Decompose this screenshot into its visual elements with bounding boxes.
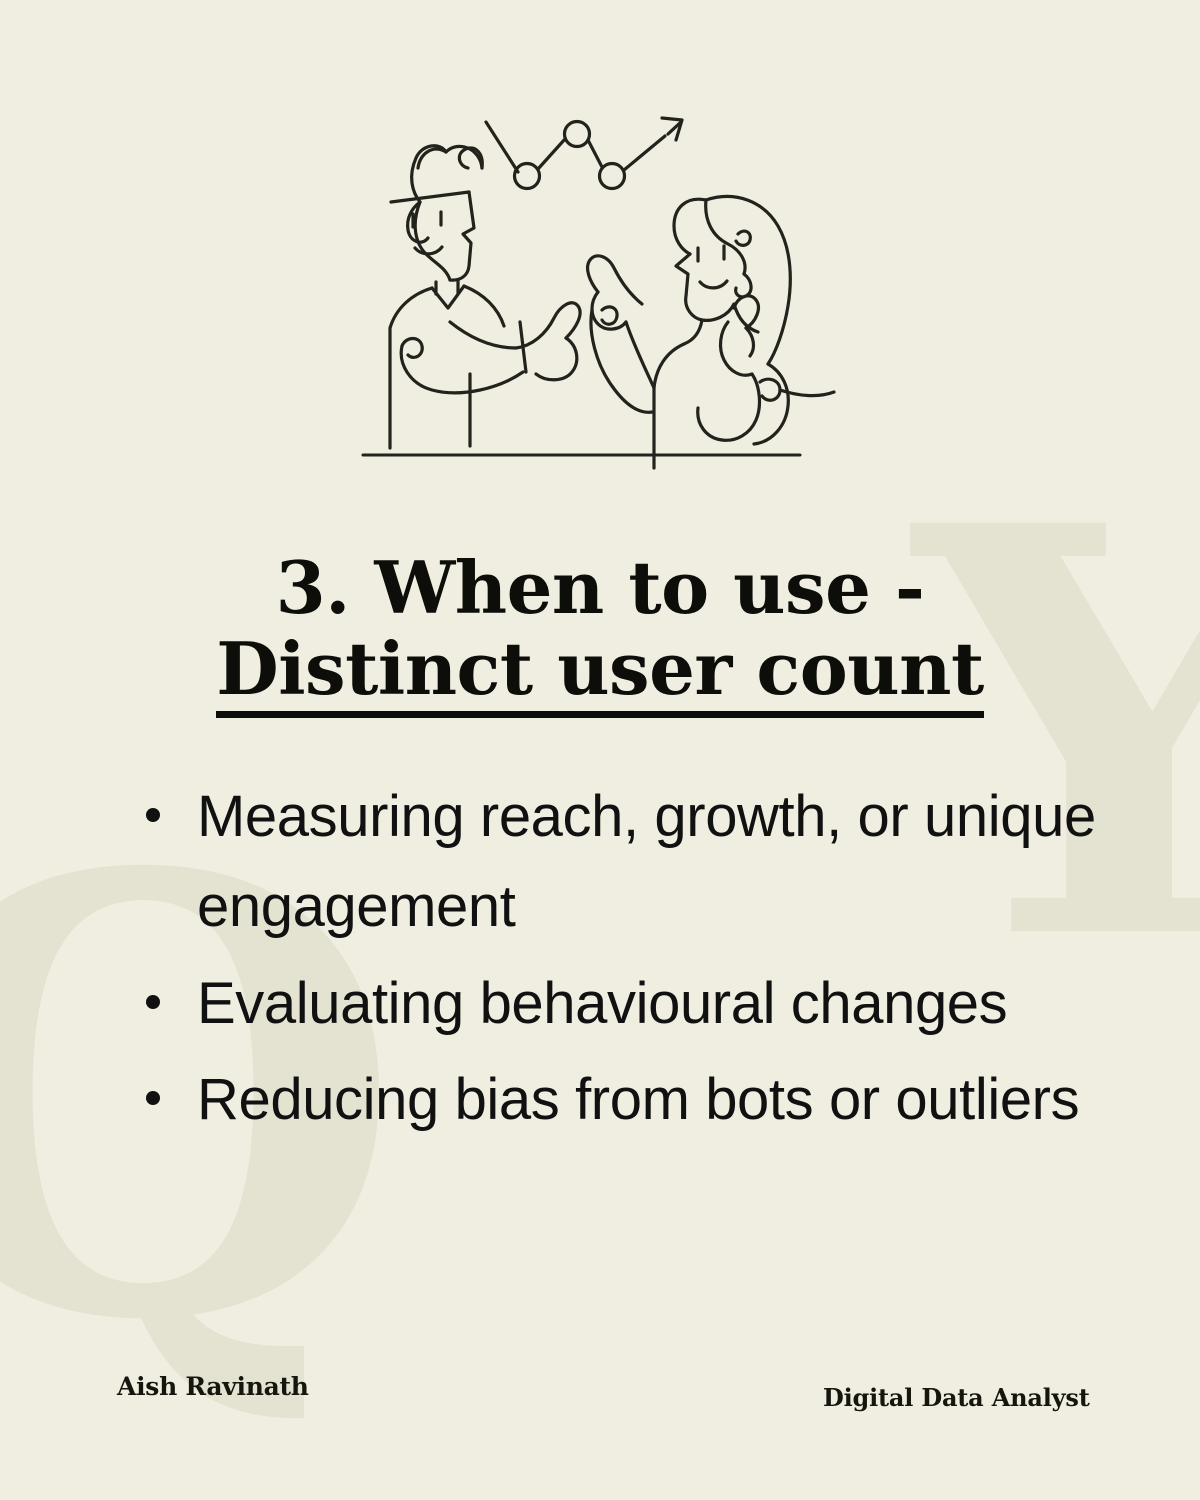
list-item-label: Evaluating behavioural changes [197, 971, 1007, 1036]
bullet-list: Measuring reach, growth, or unique engag… [130, 772, 1120, 1152]
list-item-label: Measuring reach, growth, or unique engag… [197, 784, 1096, 939]
woman-figure-icon [588, 196, 834, 468]
list-item: Measuring reach, growth, or unique engag… [130, 772, 1120, 953]
trend-arrow-icon [486, 118, 682, 189]
man-figure-icon [390, 146, 580, 448]
header-illustration [340, 96, 860, 478]
slide-canvas: Q Y [0, 0, 1200, 1500]
page-title-line-1: 3. When to use - [60, 548, 1140, 629]
page-title-line-2-wrapper: Distinct user count [60, 629, 1140, 719]
bullet-dot-icon [146, 995, 160, 1009]
bullet-dot-icon [146, 1091, 160, 1105]
footer-author-name: Aish Ravinath [117, 1372, 309, 1401]
page-title-line-2: Distinct user count [216, 629, 983, 719]
list-item: Reducing bias from bots or outliers [130, 1055, 1120, 1145]
bullet-dot-icon [146, 808, 160, 822]
footer-role-title: Digital Data Analyst [823, 1383, 1090, 1412]
list-item: Evaluating behavioural changes [130, 959, 1120, 1049]
page-title: 3. When to use - Distinct user count [60, 548, 1140, 718]
list-item-label: Reducing bias from bots or outliers [197, 1067, 1079, 1132]
